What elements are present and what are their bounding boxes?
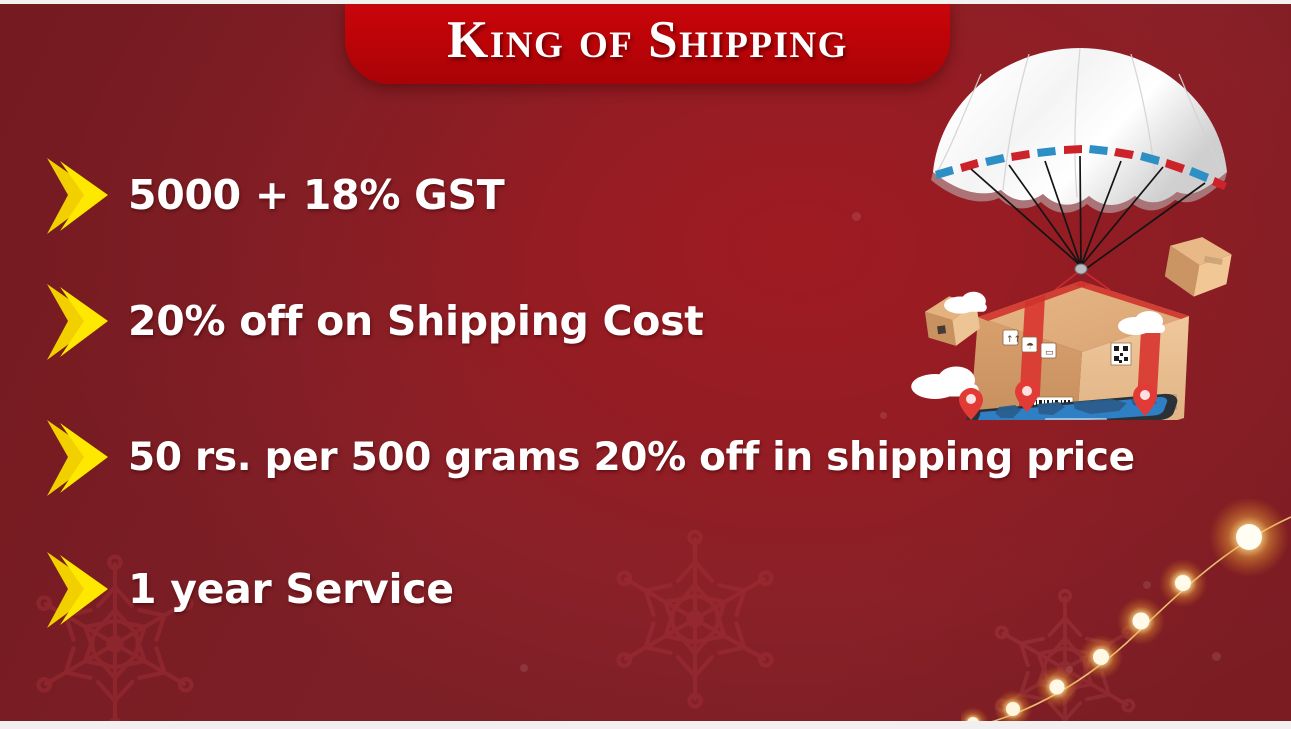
double-chevron-right-icon	[44, 414, 110, 502]
promo-banner: ↑↑☂▭	[0, 0, 1291, 729]
list-item-label: 1 year Service	[128, 568, 454, 611]
top-edge-strip	[0, 0, 1291, 4]
list-item-label: 20% off on Shipping Cost	[128, 300, 704, 343]
bottom-edge-strip	[0, 721, 1291, 729]
list-item-label: 5000 + 18% GST	[128, 174, 504, 217]
list-item: 20% off on Shipping Cost	[44, 278, 704, 366]
double-chevron-right-icon	[44, 546, 110, 634]
double-chevron-right-icon	[44, 278, 110, 366]
list-item-label: 50 rs. per 500 grams 20% off in shipping…	[128, 438, 1135, 479]
list-item: 1 year Service	[44, 546, 454, 634]
list-item: 5000 + 18% GST	[44, 152, 504, 240]
feature-list: 5000 + 18% GST 20% off on Shipping Cost …	[0, 0, 1291, 729]
list-item: 50 rs. per 500 grams 20% off in shipping…	[44, 414, 1135, 502]
double-chevron-right-icon	[44, 152, 110, 240]
